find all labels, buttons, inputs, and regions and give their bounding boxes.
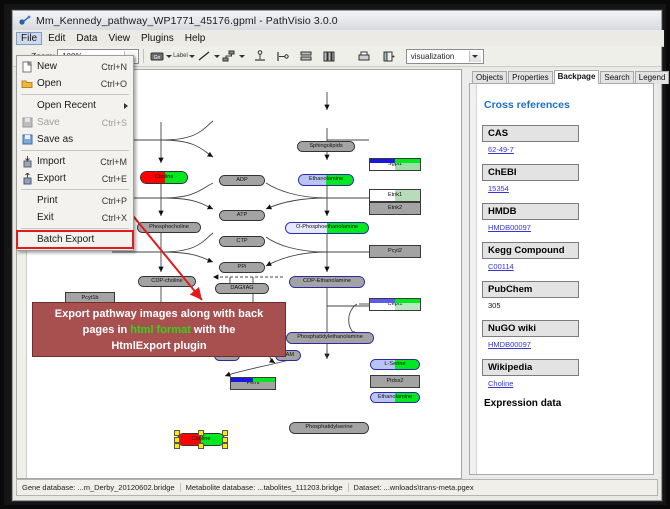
file-menu-label: Print: [37, 195, 102, 206]
file-menu-batch-export[interactable]: Batch Export: [17, 231, 133, 248]
database-value-cas[interactable]: 62-49-7: [488, 145, 647, 154]
node-label: Choline: [192, 437, 211, 443]
file-menu-label: Export: [37, 173, 102, 184]
chevron-down-icon[interactable]: [469, 51, 481, 62]
backpage-content: Cross references CAS62-49-7ChEBI15354HMD…: [478, 84, 651, 474]
menu-item-file[interactable]: File: [16, 32, 42, 45]
database-label-kegg-compound: Kegg Compound: [482, 242, 579, 259]
database-label-nugo-wiki: NuGO wiki: [482, 320, 579, 337]
menu-item-view[interactable]: View: [103, 32, 135, 45]
node-label: Phosphatidylethanolamine: [297, 335, 363, 341]
file-menu-accelerator: Ctrl+M: [100, 157, 133, 167]
interaction-dropdown-icon[interactable]: [238, 49, 246, 63]
file-menu-label: Save: [37, 117, 102, 128]
database-label-cas: CAS: [482, 125, 579, 142]
menu-separator: [21, 189, 129, 190]
metabolite-node-cdp-ethanolamine[interactable]: CDP-Ethanolamine: [289, 276, 365, 288]
metabolite-node-phosphatidylethanolamine[interactable]: Phosphatidylethanolamine: [286, 332, 374, 344]
save-as-icon: [17, 132, 37, 147]
metabolite-node-phosphocholine[interactable]: Phosphocholine: [137, 222, 201, 233]
visualization-value: visualization: [409, 52, 469, 61]
align-top-icon[interactable]: [253, 49, 268, 64]
file-menu-accelerator: Ctrl+X: [102, 213, 133, 223]
file-menu-save-as[interactable]: Save as: [17, 131, 133, 148]
node-label: O-Phosphoethanolamine: [296, 225, 358, 231]
node-label: CDP-Ethanolamine: [303, 279, 351, 285]
file-menu-accelerator: Ctrl+P: [102, 196, 133, 206]
cross-reference-list: CAS62-49-7ChEBI15354HMDBHMDB00097Kegg Co…: [482, 125, 647, 388]
node-label: PPi: [238, 265, 247, 271]
tab-backpage[interactable]: Backpage: [554, 70, 600, 84]
svg-text:Gn: Gn: [153, 55, 160, 61]
file-menu-label: Open Recent: [37, 100, 127, 111]
node-label: ATP: [237, 213, 247, 219]
panel-tabs[interactable]: ObjectsPropertiesBackpageSearchLegend: [463, 69, 670, 84]
file-menu-save: SaveCtrl+S: [17, 114, 133, 131]
database-value-kegg-compound[interactable]: C00114: [488, 262, 647, 271]
file-menu-accelerator: Ctrl+E: [102, 174, 133, 184]
no-icon: [17, 193, 37, 208]
gene-node-pemt[interactable]: Pemt: [230, 377, 276, 390]
node-visualization-bar: [231, 378, 275, 382]
datanode-tool-icon[interactable]: Gn: [149, 49, 164, 64]
title-bar: Mm_Kennedy_pathway_WP1771_45176.gpml - P…: [13, 11, 661, 31]
database-value-wikipedia[interactable]: Choline: [488, 379, 647, 388]
window-title: Mm_Kennedy_pathway_WP1771_45176.gpml - P…: [36, 15, 338, 27]
metabolite-node-dag-iag[interactable]: DAG/IAG: [215, 283, 269, 294]
sidebar-toggle-icon[interactable]: [382, 49, 397, 64]
pathvisio-window: Mm_Kennedy_pathway_WP1771_45176.gpml - P…: [12, 10, 662, 501]
node-label: Ptdss2: [386, 379, 403, 385]
selection-handle[interactable]: [198, 443, 204, 449]
metabolite-node-o-phosphoethanolamine[interactable]: O-Phosphoethanolamine: [285, 222, 369, 234]
metabolite-node-sphingolipids[interactable]: Sphingolipids: [297, 141, 355, 152]
metabolite-node-ctp[interactable]: CTP: [219, 236, 265, 247]
no-icon: [17, 210, 37, 225]
line-dropdown-icon[interactable]: [213, 49, 221, 63]
visualization-combo[interactable]: visualization: [406, 49, 484, 64]
submenu-arrow-icon: [124, 103, 128, 109]
selection-handle[interactable]: [174, 443, 180, 449]
menu-item-plugins[interactable]: Plugins: [136, 32, 179, 45]
file-menu-accelerator: Ctrl+N: [101, 62, 133, 72]
backpage-panel: Cross references CAS62-49-7ChEBI15354HMD…: [469, 83, 654, 475]
node-label: Choline: [155, 175, 174, 181]
no-icon: [17, 98, 37, 113]
file-menu-label: Open: [37, 78, 101, 89]
database-value-pubchem: 305: [488, 301, 647, 310]
selection-handle[interactable]: [222, 430, 228, 436]
metabolite-node-cdp-choline[interactable]: CDP-choline: [138, 276, 196, 287]
file-menu-accelerator: Ctrl+O: [101, 79, 133, 89]
callout-line-1: Export pathway images along with back: [55, 308, 263, 320]
metabolite-node-phosphatidylserine[interactable]: Phosphatidylserine: [289, 422, 369, 434]
print-icon[interactable]: [357, 49, 372, 64]
metabolite-node-ethanolamine[interactable]: Ethanolamine: [298, 174, 354, 186]
file-menu-print[interactable]: PrintCtrl+P: [17, 192, 133, 209]
datanode-dropdown-icon[interactable]: [165, 49, 173, 63]
menu-item-help[interactable]: Help: [180, 32, 211, 45]
callout-line-3: HtmlExport plugin: [111, 340, 206, 352]
callout-line-2a: pages in: [83, 324, 131, 336]
file-menu-label: New: [37, 61, 101, 72]
node-label: CTP: [236, 239, 247, 245]
menu-separator: [21, 228, 129, 229]
stack-columns-icon[interactable]: [322, 49, 337, 64]
database-value-chebi[interactable]: 15354: [488, 184, 647, 193]
menu-bar[interactable]: FileEditDataViewPluginsHelp: [13, 30, 664, 47]
gene-node-sgpl1[interactable]: Sgpl1: [369, 158, 421, 171]
menu-item-data[interactable]: Data: [71, 32, 102, 45]
database-label-pubchem: PubChem: [482, 281, 579, 298]
menu-separator: [21, 94, 129, 95]
node-label: DAG/IAG: [230, 286, 253, 292]
file-menu-open-recent[interactable]: Open Recent: [17, 97, 133, 114]
cross-references-title: Cross references: [484, 99, 647, 111]
no-icon: [17, 232, 37, 247]
screenshot-root: Mm_Kennedy_pathway_WP1771_45176.gpml - P…: [0, 0, 670, 509]
node-label: Phosphatidylserine: [305, 425, 352, 431]
file-menu-label: Save as: [37, 134, 127, 145]
gene-node-etnk2[interactable]: Etnk2: [369, 202, 421, 215]
node-label: Etnk2: [388, 206, 402, 212]
node-label: Ethanolamine: [309, 177, 343, 183]
database-value-nugo-wiki[interactable]: HMDB00097: [488, 340, 647, 349]
node-label: ADP: [236, 178, 248, 184]
backpage-scrollbar[interactable]: [470, 84, 477, 474]
callout-highlight: html format: [130, 324, 191, 336]
node-label: Sphingolipids: [309, 144, 342, 150]
expression-data-title: Expression data: [484, 398, 647, 409]
file-menu-open[interactable]: OpenCtrl+O: [17, 75, 133, 92]
menu-item-edit[interactable]: Edit: [43, 32, 70, 45]
file-menu-exit[interactable]: ExitCtrl+X: [17, 209, 133, 226]
file-menu-popup[interactable]: NewCtrl+NOpenCtrl+OOpen RecentSaveCtrl+S…: [16, 55, 134, 251]
node-label: Pcyt1b: [81, 296, 98, 302]
gene-node-cept1[interactable]: Cept1: [369, 298, 421, 311]
selection-handle[interactable]: [174, 430, 180, 436]
metabolite-node-ethanolamine[interactable]: Ethanolamine: [370, 392, 420, 403]
interaction-tool-icon[interactable]: [222, 49, 237, 64]
node-label: Phosphocholine: [149, 225, 189, 231]
status-segment-2: Dataset: ...wnloads\trans-meta.pgex: [349, 483, 479, 492]
node-label: CDP-choline: [151, 279, 182, 285]
label-tool-text: Label: [173, 53, 188, 59]
file-menu-label: Exit: [37, 212, 102, 223]
stack-rows-icon[interactable]: [299, 49, 314, 64]
database-label-chebi: ChEBI: [482, 164, 579, 181]
node-label: Ethanolamine: [378, 395, 412, 401]
metabolite-node-ppi[interactable]: PPi: [219, 262, 265, 273]
new-document-icon: [17, 59, 37, 74]
file-menu-label: Batch Export: [37, 234, 127, 245]
import-icon: [17, 154, 37, 169]
file-menu-new[interactable]: NewCtrl+N: [17, 58, 133, 75]
file-menu-accelerator: Ctrl+S: [102, 118, 133, 128]
gene-node-pcyt2[interactable]: Pcyt2: [369, 245, 421, 258]
callout-annotation: Export pathway images along with back pa…: [32, 302, 286, 357]
node-label: L-Serine: [384, 362, 405, 368]
selection-handle[interactable]: [222, 437, 228, 443]
node-visualization-bar: [370, 299, 420, 303]
selection-handle[interactable]: [198, 430, 204, 436]
status-segment-1: Metabolite database: ...tabolites_111203…: [181, 483, 349, 492]
metabolite-node-l-serine[interactable]: L-Serine: [370, 359, 420, 370]
line-tool-icon[interactable]: [197, 49, 212, 64]
gene-node-etnk1[interactable]: Etnk1: [369, 189, 421, 202]
metabolite-node-choline[interactable]: Choline: [140, 171, 188, 184]
database-value-hmdb[interactable]: HMDB00097: [488, 223, 647, 232]
gene-node-ptdss2[interactable]: Ptdss2: [370, 375, 420, 388]
file-menu-export[interactable]: ExportCtrl+E: [17, 170, 133, 187]
align-left-icon[interactable]: [276, 49, 291, 64]
status-bar: Gene database: ...m_Derby_20120602.bridg…: [16, 479, 658, 496]
node-visualization-bar: [370, 159, 420, 163]
label-dropdown-icon[interactable]: [188, 49, 196, 63]
selection-handle[interactable]: [222, 443, 228, 449]
menu-separator: [21, 150, 129, 151]
save-disk-icon: [17, 115, 37, 130]
node-label: Pcyt2: [388, 249, 402, 255]
pathvisio-icon: [18, 14, 31, 27]
callout-line-2c: with the: [191, 324, 236, 336]
database-label-wikipedia: Wikipedia: [482, 359, 579, 376]
metabolite-node-atp[interactable]: ATP: [219, 210, 265, 221]
file-menu-label: Import: [37, 156, 100, 167]
export-icon: [17, 171, 37, 186]
node-label: Etnk1: [388, 193, 402, 199]
folder-open-icon: [17, 76, 37, 91]
status-segment-0: Gene database: ...m_Derby_20120602.bridg…: [17, 483, 181, 492]
database-label-hmdb: HMDB: [482, 203, 579, 220]
file-menu-import[interactable]: ImportCtrl+M: [17, 153, 133, 170]
selection-handle[interactable]: [174, 437, 180, 443]
right-side-panel: ObjectsPropertiesBackpageSearchLegend Cr…: [463, 69, 658, 477]
metabolite-node-adp[interactable]: ADP: [219, 175, 265, 186]
